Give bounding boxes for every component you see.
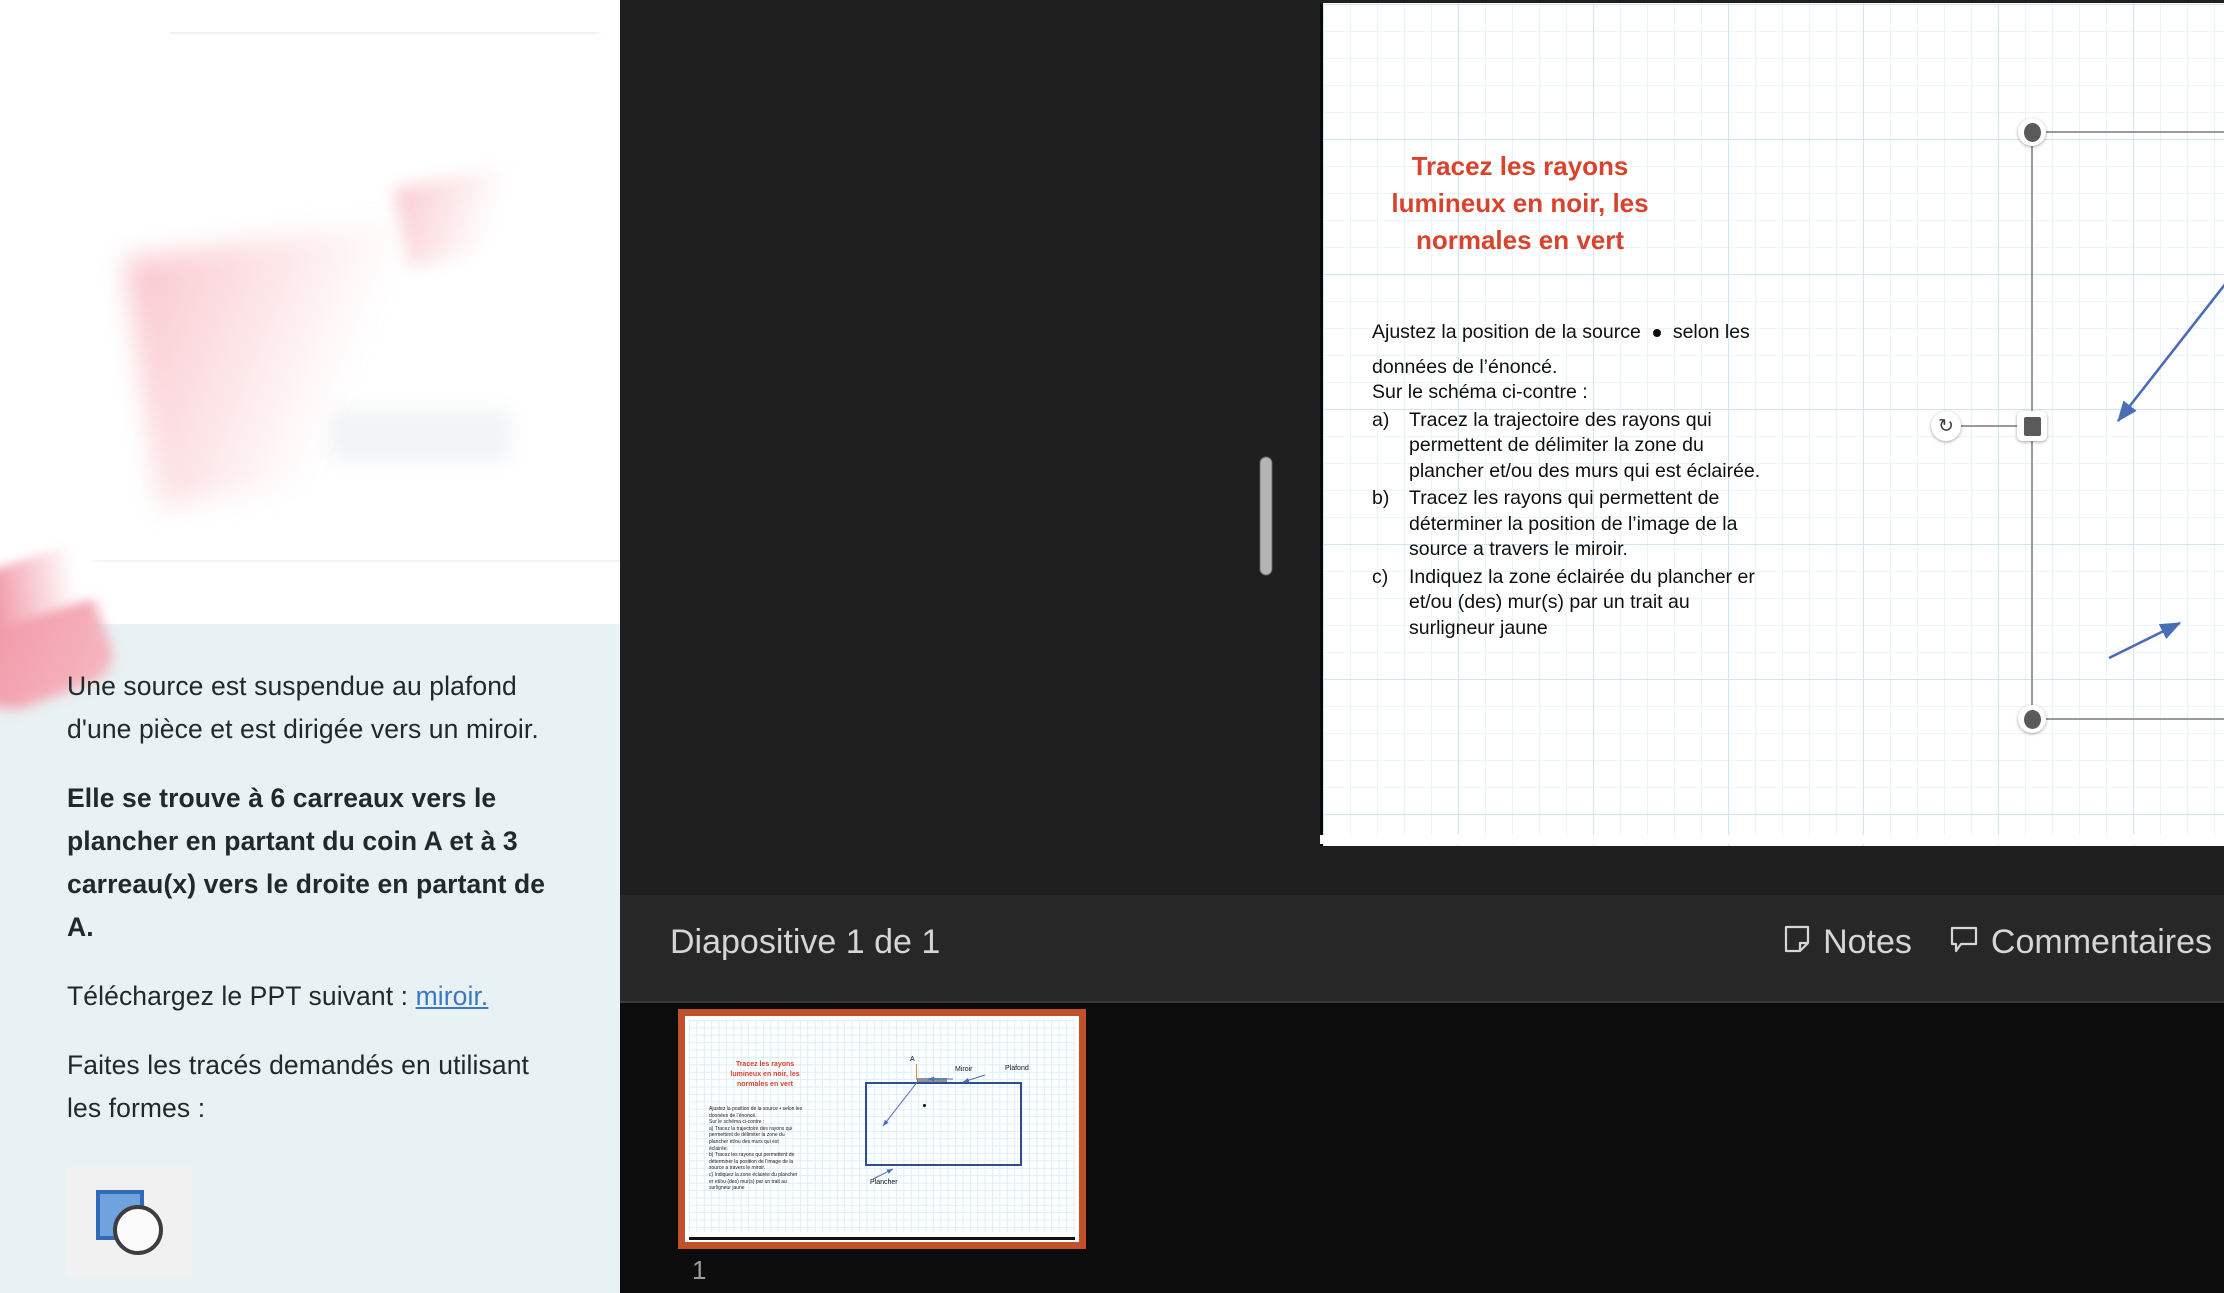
instruction-paragraph-1: Une source est suspendue au plafond d'un… xyxy=(67,665,567,751)
thumbnail-label-plafond: Plafond xyxy=(1005,1065,1029,1072)
comments-button[interactable]: Commentaires xyxy=(1950,923,2212,962)
download-text: Téléchargez le PPT suivant : xyxy=(67,981,416,1011)
resize-handle-top-left[interactable] xyxy=(2018,118,2046,146)
selection-line-bottom xyxy=(2032,718,2224,720)
thumbnail-arrows xyxy=(685,1016,1079,1242)
status-bar: Diapositive 1 de 1 Notes Commentaires xyxy=(620,895,2224,1005)
slide-intro-line-3: Sur le schéma ci-contre : xyxy=(1372,380,1772,406)
thumbnail-canvas: Tracez les rayons lumineux en noir, les … xyxy=(685,1016,1079,1242)
status-bar-actions: Notes Commentaires xyxy=(1784,923,2212,962)
editor-vertical-scrollbar[interactable] xyxy=(1260,457,1272,575)
slide-body-text[interactable]: Ajustez la position de la sourceselon le… xyxy=(1372,320,1772,641)
slide-intro-line-2: données de l’énoncé. xyxy=(1372,355,1772,381)
resize-handle-middle-left[interactable] xyxy=(2017,411,2047,441)
slide-intro-line-1: Ajustez la position de la sourceselon le… xyxy=(1372,320,1772,346)
slide-list-item-c: c) Indiquez la zone éclairée du plancher… xyxy=(1372,565,1772,642)
slide-thumbnail-strip: Tracez les rayons lumineux en noir, les … xyxy=(620,1003,2224,1293)
intro-before-dot: Ajustez la position de la source xyxy=(1372,321,1641,343)
grey-shade-blur xyxy=(330,410,510,460)
list-text-b: Tracez les rayons qui permettent de déte… xyxy=(1409,486,1772,563)
source-dot-icon xyxy=(1653,329,1661,337)
instruction-text-block: Une source est suspendue au plafond d'un… xyxy=(67,665,567,1156)
list-text-c: Indiquez la zone éclairée du plancher er… xyxy=(1409,565,1772,642)
instruction-paragraph-3: Téléchargez le PPT suivant : miroir. xyxy=(67,975,567,1018)
instruction-paragraph-4: Faites les tracés demandés en utilisant … xyxy=(67,1044,567,1130)
notes-label: Notes xyxy=(1823,923,1912,962)
selection-line-top xyxy=(2032,131,2224,133)
slide-counter: Diapositive 1 de 1 xyxy=(670,923,940,962)
note-page-icon xyxy=(1784,923,1810,962)
spacer xyxy=(1372,346,1772,355)
list-text-a: Tracez la trajectoire des rayons qui per… xyxy=(1409,408,1772,485)
slide-title-line-3: normales en vert xyxy=(1380,222,1660,259)
ppt-download-link[interactable]: miroir. xyxy=(416,981,489,1011)
comment-bubble-icon xyxy=(1950,923,1978,962)
square-circle-shapes-icon xyxy=(90,1186,170,1258)
slide-title-line-1: Tracez les rayons xyxy=(1380,148,1660,185)
rotate-icon: ↻ xyxy=(1938,417,1954,436)
list-marker-a: a) xyxy=(1372,408,1409,485)
white-overlay-lobe-2 xyxy=(596,110,620,440)
shape-tool-thumbnail[interactable] xyxy=(67,1167,192,1277)
slide-list-item-a: a) Tracez la trajectoire des rayons qui … xyxy=(1372,408,1772,485)
thumbnail-label-miroir: Miroir xyxy=(955,1066,973,1073)
thumbnail-label-plancher: Plancher xyxy=(870,1179,898,1186)
list-marker-c: c) xyxy=(1372,565,1409,642)
thumbnail-bottom-bar xyxy=(689,1237,1075,1240)
left-content-panel: Une source est suspendue au plafond d'un… xyxy=(0,0,620,1293)
intro-after-dot: selon les xyxy=(1673,321,1750,343)
slide-title[interactable]: Tracez les rayons lumineux en noir, les … xyxy=(1380,148,1660,259)
slide-horizontal-scroll-track xyxy=(1320,835,2224,844)
thumbnail-label-a: A xyxy=(910,1056,915,1063)
rotate-handle[interactable]: ↻ xyxy=(1931,411,1961,441)
thumbnail-slide-number: 1 xyxy=(692,1255,706,1286)
app-root: Une source est suspendue au plafond d'un… xyxy=(0,0,2224,1293)
notes-button[interactable]: Notes xyxy=(1784,923,1912,962)
comments-label: Commentaires xyxy=(1991,923,2212,962)
slide-thumbnail-1[interactable]: Tracez les rayons lumineux en noir, les … xyxy=(678,1009,1086,1249)
instruction-paragraph-2: Elle se trouve à 6 carreaux vers le plan… xyxy=(67,777,567,949)
slide-list-item-b: b) Tracez les rayons qui permettent de d… xyxy=(1372,486,1772,563)
slide-title-line-2: lumineux en noir, les xyxy=(1380,185,1660,222)
list-marker-b: b) xyxy=(1372,486,1409,563)
resize-handle-bottom-left[interactable] xyxy=(2018,705,2046,733)
